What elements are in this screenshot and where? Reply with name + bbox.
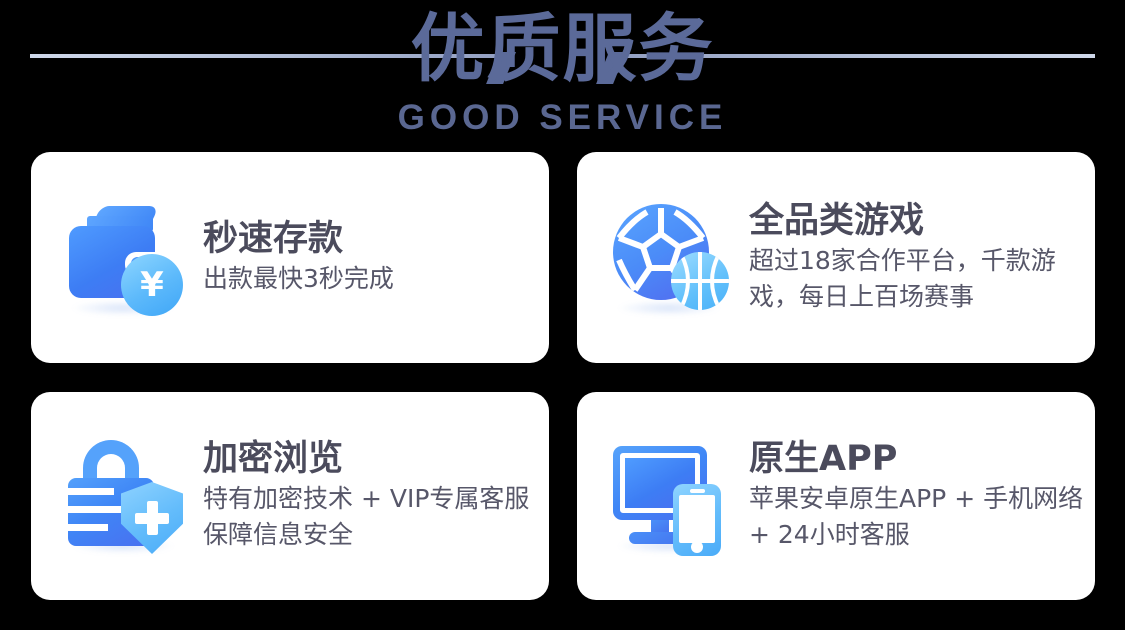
feature-card-encryption[interactable]: 加密浏览 特有加密技术 + VIP专属客服保障信息安全 — [31, 392, 549, 600]
soccer-basketball-icon — [611, 196, 735, 320]
card-title: 全品类游戏 — [749, 199, 1085, 243]
card-description: 出款最快3秒完成 — [203, 261, 394, 297]
promo-banner: 优质服务 GOOD SERVICE ¥ 秒速存款 出款最快3秒完成 — [0, 0, 1125, 630]
card-text: 全品类游戏 超过18家合作平台，千款游戏，每日上百场赛事 — [749, 199, 1085, 317]
cross-icon — [147, 501, 158, 535]
feature-card-grid: ¥ 秒速存款 出款最快3秒完成 — [31, 152, 1095, 600]
feature-card-native-app[interactable]: 原生APP 苹果安卓原生APP + 手机网络 + 24小时客服 — [577, 392, 1095, 600]
feature-card-deposit[interactable]: ¥ 秒速存款 出款最快3秒完成 — [31, 152, 549, 363]
phone-speaker-icon — [690, 489, 705, 493]
feature-card-games[interactable]: 全品类游戏 超过18家合作平台，千款游戏，每日上百场赛事 — [577, 152, 1095, 363]
card-text: 加密浏览 特有加密技术 + VIP专属客服保障信息安全 — [203, 437, 539, 555]
monitor-phone-icon — [611, 434, 735, 558]
wallet-yen-icon: ¥ — [65, 196, 189, 320]
phone-home-button-icon — [691, 541, 703, 553]
card-text: 秒速存款 出款最快3秒完成 — [203, 217, 394, 299]
phone-screen-icon — [679, 495, 715, 543]
page-title: 优质服务 — [0, 6, 1125, 92]
page-subtitle: GOOD SERVICE — [0, 98, 1125, 138]
card-description: 苹果安卓原生APP + 手机网络 + 24小时客服 — [749, 481, 1085, 553]
basketball-icon — [671, 252, 729, 310]
yen-coin-icon: ¥ — [121, 254, 183, 316]
card-title: 原生APP — [749, 437, 1085, 481]
phone-icon — [673, 484, 721, 556]
card-text: 原生APP 苹果安卓原生APP + 手机网络 + 24小时客服 — [749, 437, 1085, 555]
card-title: 加密浏览 — [203, 437, 539, 481]
header: 优质服务 GOOD SERVICE — [0, 0, 1125, 145]
lock-shield-icon — [65, 434, 189, 558]
card-description: 特有加密技术 + VIP专属客服保障信息安全 — [203, 481, 539, 553]
card-title: 秒速存款 — [203, 217, 394, 261]
card-description: 超过18家合作平台，千款游戏，每日上百场赛事 — [749, 243, 1085, 315]
